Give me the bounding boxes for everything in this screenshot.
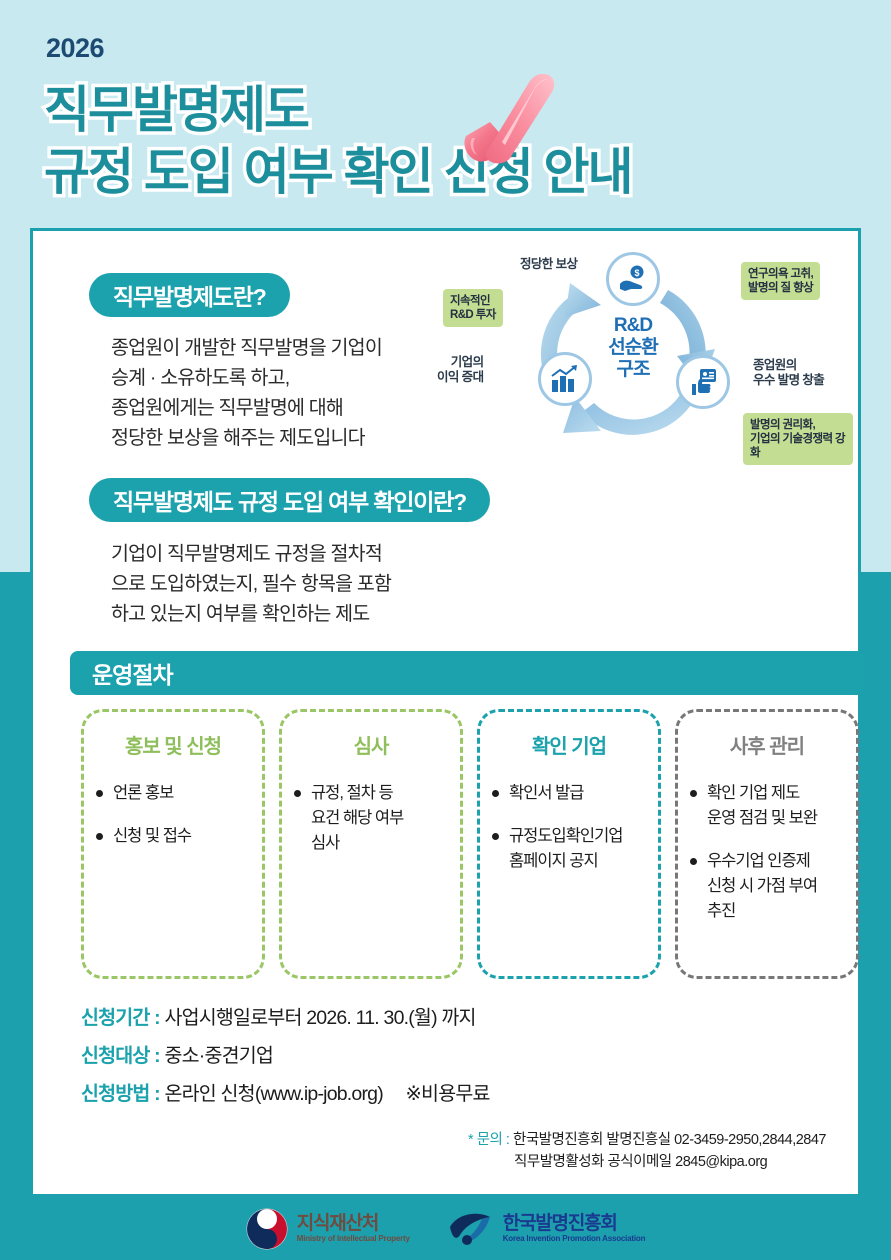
rnd-virtuous-cycle-diagram: R&D 선순환 구조 $ — [423, 245, 853, 461]
application-value[interactable]: 온라인 신청(www.ip-job.org) — [165, 1083, 383, 1105]
contact-email-line: 직무발명활성화 공식이메일 2845@kipa.org — [468, 1151, 826, 1173]
procedure-box-title: 홍보 및 신청 — [96, 730, 250, 759]
poster-root: 2026 직무발명제도 규정 도입 여부 확인 신청 안내 — [0, 0, 891, 1260]
procedure-box-promotion: 홍보 및 신청 언론 홍보 신청 및 접수 — [81, 709, 265, 979]
application-label: 신청대상 : — [81, 1045, 160, 1067]
procedure-item: 신청 및 접수 — [96, 824, 250, 849]
rnd-callout-ip-rights: 발명의 권리화, 기업의 기술경쟁력 강화 — [743, 413, 853, 465]
header-year: 2026 — [46, 33, 104, 64]
main-card: 직무발명제도란? 종업원이 개발한 직무발명을 기업이 승계 · 소유하도록 하… — [30, 228, 861, 1197]
procedure-box-title: 확인 기업 — [492, 730, 646, 759]
procedure-item: 우수기업 인증제 신청 시 가점 부여 추진 — [690, 849, 844, 924]
svg-text:$: $ — [634, 268, 639, 278]
application-label: 신청기간 : — [81, 1007, 160, 1029]
logo-kipa: 한국발명진흥회 Korea Invention Promotion Associ… — [448, 1209, 646, 1249]
procedure-box-title: 심사 — [294, 730, 448, 759]
rnd-label-employee-invention: 종업원의 우수 발명 창출 — [753, 358, 824, 388]
logo-ministry-ip: 지식재산처 Ministry of Intellectual Property — [246, 1208, 410, 1250]
procedure-box-followup: 사후 관리 확인 기업 제도 운영 점검 및 보완 우수기업 인증제 신청 시 … — [675, 709, 859, 979]
section-heading-what-is: 직무발명제도란? — [89, 273, 290, 317]
contact-block: * 문의 : 한국발명진흥회 발명진흥실 02-3459-2950,2844,2… — [468, 1129, 826, 1173]
rnd-label-company-profit: 기업의 이익 증대 — [437, 355, 483, 385]
footer-logos: 지식재산처 Ministry of Intellectual Property … — [0, 1197, 891, 1260]
procedure-item: 확인서 발급 — [492, 781, 646, 806]
procedure-section-heading: 운영절차 — [70, 651, 865, 695]
rnd-callout-research-motivation: 연구의욕 고취, 발명의 질 향상 — [741, 262, 820, 300]
contact-line-1: * 문의 : 한국발명진흥회 발명진흥실 02-3459-2950,2844,2… — [468, 1129, 826, 1151]
taeguk-symbol-icon — [246, 1208, 288, 1250]
building-growth-icon — [538, 352, 592, 406]
application-row-method: 신청방법 : 온라인 신청(www.ip-job.org) ※비용무료 — [81, 1075, 841, 1113]
person-thumbs-up-icon — [676, 355, 730, 409]
logo-name-en: Korea Invention Promotion Association — [503, 1234, 646, 1244]
money-hand-icon: $ — [606, 252, 660, 306]
section-body-confirm: 기업이 직무발명제도 규정을 절차적 으로 도입하였는지, 필수 항목을 포함 … — [111, 539, 391, 629]
contact-inquiry-label: * 문의 : — [468, 1132, 509, 1148]
procedure-item: 확인 기업 제도 운영 점검 및 보완 — [690, 781, 844, 831]
application-note-free: ※비용무료 — [406, 1083, 490, 1105]
application-value: 중소·중견기업 — [165, 1045, 274, 1067]
section-body-what-is: 종업원이 개발한 직무발명을 기업이 승계 · 소유하도록 하고, 종업원에게는… — [111, 333, 382, 453]
procedure-item: 언론 홍보 — [96, 781, 250, 806]
application-label: 신청방법 : — [81, 1083, 160, 1105]
procedure-box-title: 사후 관리 — [690, 730, 844, 759]
logo-name-ko: 지식재산처 — [297, 1214, 410, 1234]
section-heading-confirm: 직무발명제도 규정 도입 여부 확인이란? — [89, 478, 490, 522]
poster-header: 2026 직무발명제도 규정 도입 여부 확인 신청 안내 — [0, 0, 891, 228]
logo-name-ko: 한국발명진흥회 — [503, 1214, 646, 1234]
rnd-label-fair-compensation: 정당한 보상 — [520, 257, 577, 272]
procedure-box-confirmed-company: 확인 기업 확인서 발급 규정도입확인기업 홈페이지 공지 — [477, 709, 661, 979]
procedure-item: 규정도입확인기업 홈페이지 공지 — [492, 824, 646, 874]
procedure-box-review: 심사 규정, 절차 등 요건 해당 여부 심사 — [279, 709, 463, 979]
application-value: 사업시행일로부터 2026. 11. 30.(월) 까지 — [165, 1007, 476, 1029]
rnd-callout-rnd-investment: 지속적인 R&D 투자 — [443, 289, 503, 327]
check-mark-icon — [452, 74, 562, 186]
contact-phone-line: 한국발명진흥회 발명진흥실 02-3459-2950,2844,2847 — [513, 1132, 826, 1148]
kipa-swoosh-icon — [448, 1209, 494, 1249]
application-row-period: 신청기간 : 사업시행일로부터 2026. 11. 30.(월) 까지 — [81, 999, 841, 1037]
application-row-target: 신청대상 : 중소·중견기업 — [81, 1037, 841, 1075]
application-info: 신청기간 : 사업시행일로부터 2026. 11. 30.(월) 까지 신청대상… — [81, 999, 841, 1113]
procedure-item: 규정, 절차 등 요건 해당 여부 심사 — [294, 781, 448, 856]
logo-name-en: Ministry of Intellectual Property — [297, 1234, 410, 1244]
procedure-boxes: 홍보 및 신청 언론 홍보 신청 및 접수 심사 규정, 절차 등 요건 해당 … — [81, 709, 871, 979]
